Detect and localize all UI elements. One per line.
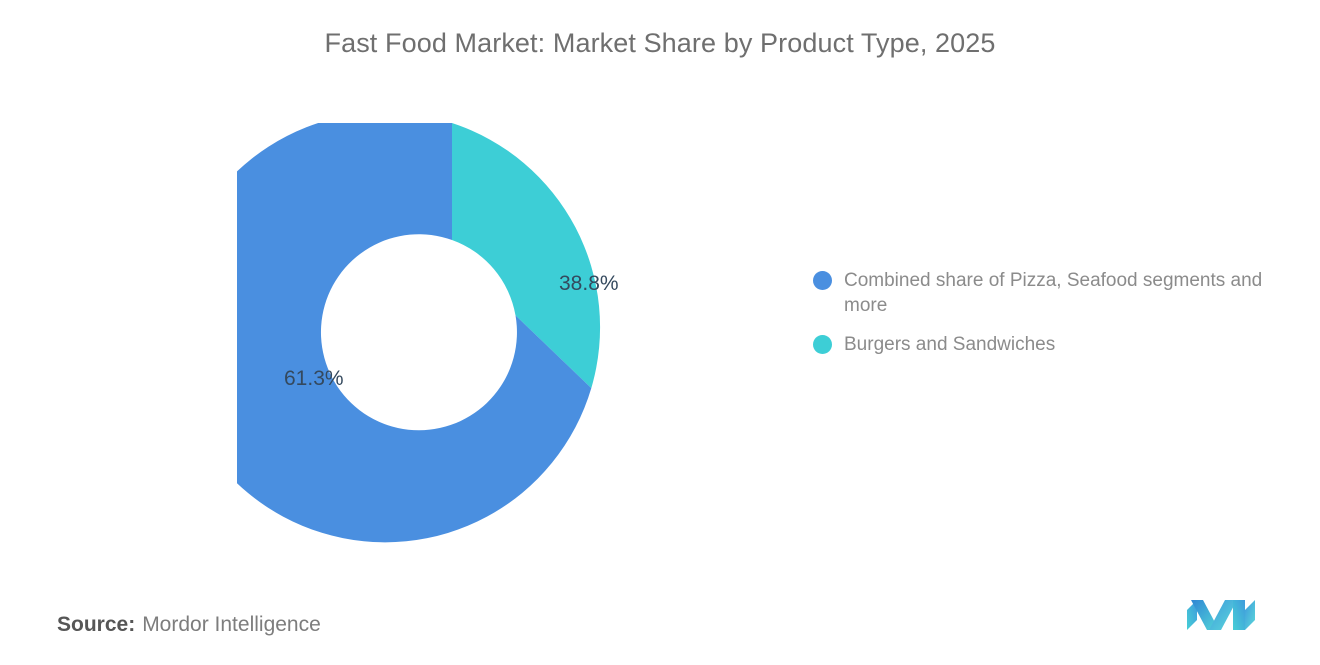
legend-item-label: Combined share of Pizza, Seafood segment…: [844, 268, 1305, 318]
source-attribution: Source:Mordor Intelligence: [57, 613, 321, 637]
source-value: Mordor Intelligence: [142, 613, 321, 636]
legend-item-label: Burgers and Sandwiches: [844, 332, 1055, 357]
legend-item-burgers-and-sandwiches[interactable]: Burgers and Sandwiches: [813, 332, 1305, 357]
source-label: Source:: [57, 613, 135, 636]
slice-value-label-burgers: 38.8%: [559, 272, 619, 296]
page-title: Fast Food Market: Market Share by Produc…: [0, 28, 1320, 59]
mordor-intelligence-logo-icon: [1185, 596, 1257, 634]
donut-chart-svg: [237, 123, 667, 553]
legend-color-swatch-icon: [813, 271, 832, 290]
donut-chart: 38.8% 61.3%: [237, 123, 667, 553]
legend-item-combined-share[interactable]: Combined share of Pizza, Seafood segment…: [813, 268, 1305, 318]
legend-color-swatch-icon: [813, 335, 832, 354]
slice-value-label-combined: 61.3%: [284, 367, 344, 391]
chart-legend: Combined share of Pizza, Seafood segment…: [813, 268, 1305, 371]
